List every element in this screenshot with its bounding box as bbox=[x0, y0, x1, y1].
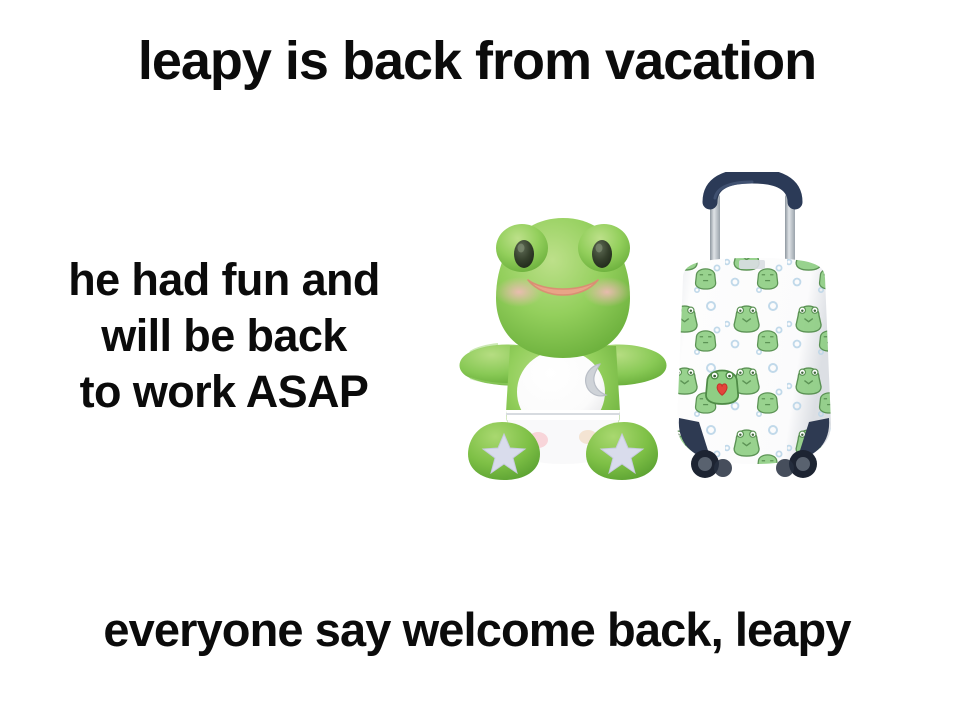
suitcase-handle bbox=[710, 176, 795, 266]
suitcase-nameplate bbox=[739, 260, 765, 269]
bottom-caption-text: everyone say welcome back, leapy bbox=[0, 606, 954, 653]
leapy-frog-plush-image bbox=[448, 196, 678, 488]
meme-canvas: leapy is back from vacation he had fun a… bbox=[0, 0, 954, 704]
middle-caption-text: he had fun and will be back to work ASAP bbox=[16, 252, 432, 419]
frog-pattern-suitcase-image bbox=[663, 172, 845, 480]
suitcase-heart-frog bbox=[706, 370, 738, 403]
title-text: leapy is back from vacation bbox=[0, 34, 954, 88]
